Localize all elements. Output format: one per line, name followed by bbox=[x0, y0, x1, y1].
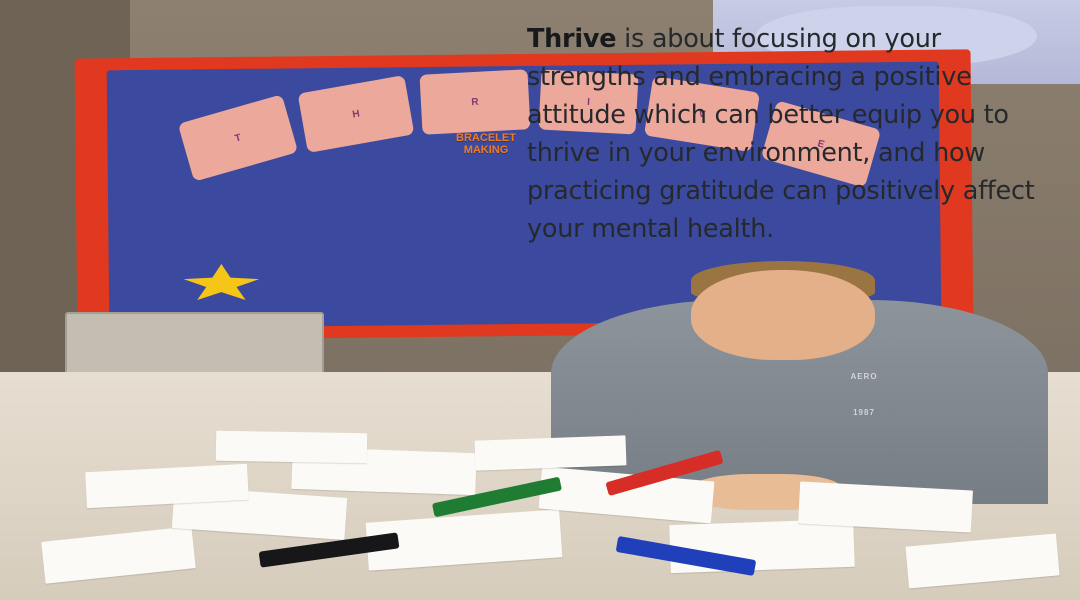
bracelet-making-photo[interactable]: T H R I V E BRACELET MAKING AERO 1987 bbox=[0, 0, 230, 230]
thrive-description-text: Thrive is about focusing on your strengt… bbox=[527, 20, 1055, 248]
copy-lead-word: Thrive bbox=[527, 24, 616, 54]
thrive-promo-page: we were made to freshcheckday.com bbox=[0, 0, 1080, 600]
copy-body-text: is about focusing on your strengths and … bbox=[527, 24, 1034, 244]
